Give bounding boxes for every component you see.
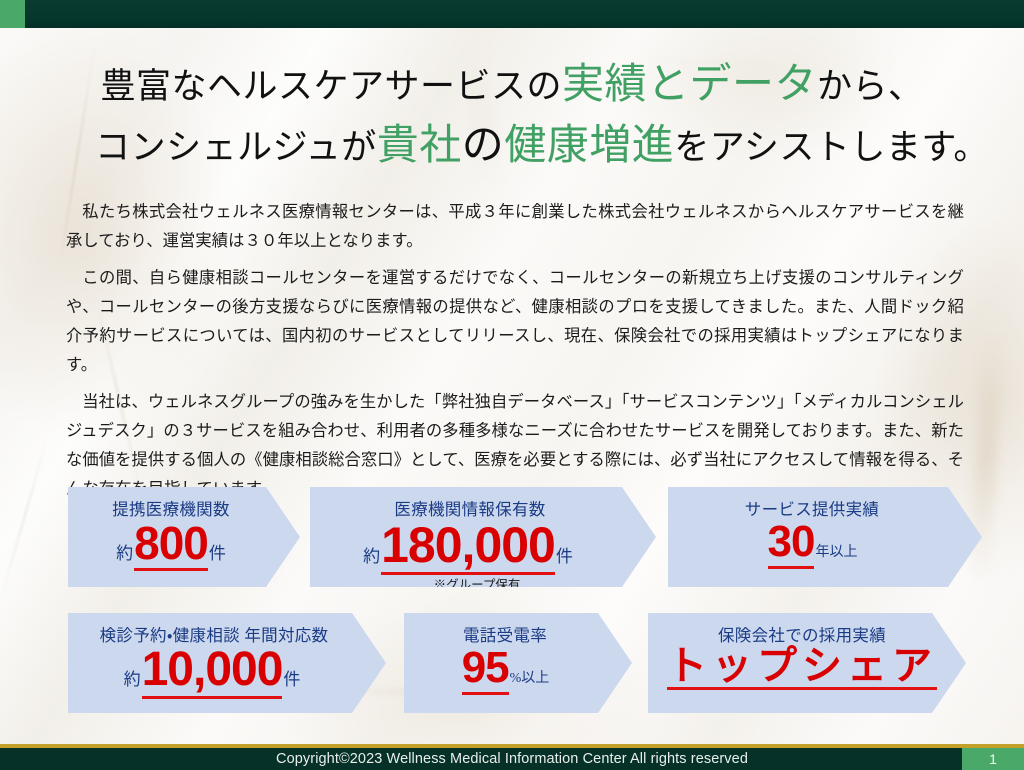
- stat-arrow-call-answer-rate: 電話受電率 95 %以上: [404, 613, 632, 713]
- stat-note: ※グループ保有: [434, 574, 533, 593]
- stat-number: 95: [462, 645, 509, 695]
- header-bar: [0, 0, 1024, 28]
- headline-text: から、: [817, 67, 924, 106]
- stat-arrow-medical-institution-data-held: 医療機関情報保有数 約 180,000 件 ※グループ保有: [310, 487, 656, 587]
- headline-text: をアシストします。: [674, 128, 989, 167]
- stat-number: 180,000: [381, 519, 555, 575]
- stat-row-1: 提携医療機関数 約 800 件 医療機関情報保有数 約 180,000 件 ※グ…: [0, 487, 1024, 587]
- stat-unit: 件: [556, 542, 573, 567]
- stat-unit: %以上: [510, 667, 550, 687]
- stat-value-row: 約 800 件: [116, 519, 252, 571]
- stat-value-row: 約 180,000 件: [363, 519, 603, 575]
- body-paragraph: 私たち株式会社ウェルネス医療情報センターは、平成３年に創業した株式会社ウェルネス…: [66, 197, 964, 255]
- footer-bar: Copyright©2023 Wellness Medical Informat…: [0, 748, 1024, 770]
- stat-value-row: 95 %以上: [461, 645, 576, 695]
- headline-line-1: 豊富なヘルスケアサービスの実績とデータから、: [0, 58, 1024, 113]
- stat-number: 800: [134, 519, 208, 571]
- header-band: [25, 0, 1024, 28]
- body-paragraph: 当社は、ウェルネスグループの強みを生かした「弊社独自データベース」「サービスコン…: [66, 387, 964, 503]
- stat-number: 10,000: [142, 645, 283, 699]
- stat-unit: 件: [209, 539, 226, 564]
- slide-canvas: 豊富なヘルスケアサービスの実績とデータから、 コンシェルジュが貴社の健康増進をア…: [0, 0, 1024, 770]
- stat-value-row: トップシェア: [666, 645, 948, 690]
- stat-value-row: 約 10,000 件: [124, 645, 331, 699]
- stat-number: 30: [768, 519, 815, 569]
- page-number-badge: 1: [962, 748, 1024, 770]
- stat-approx: 約: [363, 542, 380, 567]
- stat-arrow-insurance-adoption: 保険会社での採用実績 トップシェア: [648, 613, 966, 713]
- headline-highlight: 健康増進: [504, 123, 674, 169]
- body-paragraph: この間、自ら健康相談コールセンターを運営するだけでなく、コールセンターの新規立ち…: [66, 263, 964, 379]
- stat-approx: 約: [124, 665, 141, 690]
- copyright-text: Copyright©2023 Wellness Medical Informat…: [276, 751, 748, 767]
- stat-value-row: 30 年以上: [767, 519, 884, 569]
- stat-arrow-service-track-record: サービス提供実績 30 年以上: [668, 487, 982, 587]
- stat-arrow-annual-consultations: 検診予約・健康相談 年間対応数 約 10,000 件: [68, 613, 386, 713]
- page-number: 1: [989, 751, 997, 767]
- headline-highlight: 実績とデータ: [562, 62, 817, 108]
- headline-text: コンシェルジュが: [95, 128, 377, 167]
- stat-arrow-partner-medical-institutions: 提携医療機関数 約 800 件: [68, 487, 300, 587]
- header-accent-block: [0, 0, 25, 28]
- page-title: 豊富なヘルスケアサービスの実績とデータから、 コンシェルジュが貴社の健康増進をア…: [0, 58, 1024, 175]
- headline-line-2: コンシェルジュが貴社の健康増進をアシストします。: [0, 119, 1024, 174]
- stat-unit: 年以上: [815, 541, 857, 561]
- stat-number: トップシェア: [667, 645, 937, 690]
- headline-highlight: 貴社: [377, 123, 462, 169]
- body-copy: 私たち株式会社ウェルネス医療情報センターは、平成３年に創業した株式会社ウェルネス…: [66, 197, 964, 503]
- stat-approx: 約: [116, 539, 133, 564]
- headline-text: 豊富なヘルスケアサービスの: [100, 67, 562, 106]
- headline-text: の: [462, 123, 505, 169]
- stat-unit: 件: [283, 665, 300, 690]
- stat-row-2: 検診予約・健康相談 年間対応数 約 10,000 件 電話受電率 95 %以上 …: [0, 613, 1024, 713]
